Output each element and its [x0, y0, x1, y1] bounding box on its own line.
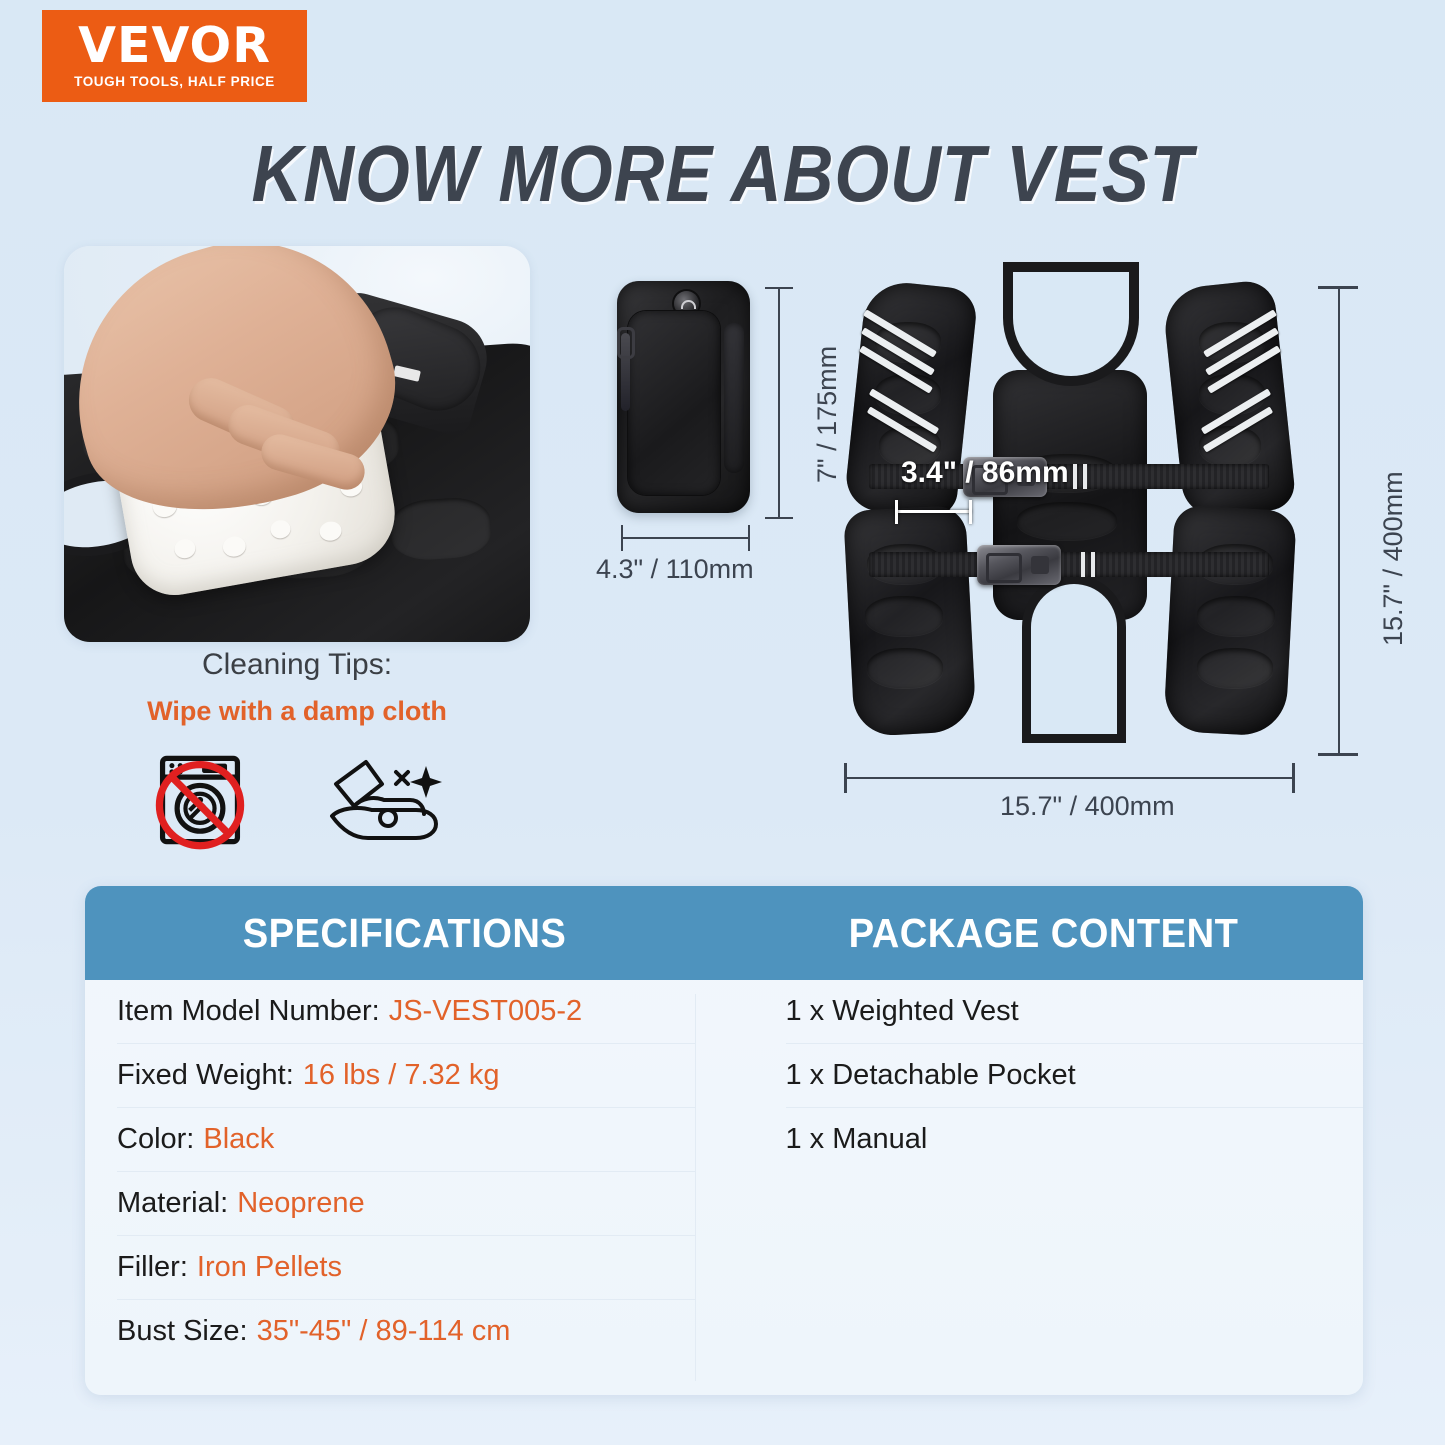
table-header-row: SPECIFICATIONS PACKAGE CONTENT: [85, 886, 1363, 980]
vest-lower-strap: [869, 552, 1269, 577]
vest-width-line: [845, 777, 1295, 779]
vest-width-cap-left: [844, 763, 847, 793]
pocket-zipper-pull: [617, 327, 635, 359]
package-content-column: 1 x Weighted Vest 1 x Detachable Pocket …: [696, 980, 1364, 1395]
cleaning-photo: [64, 246, 530, 642]
package-content-header: PACKAGE CONTENT: [746, 886, 1340, 980]
pouch-width-label: 4.3" / 110mm: [596, 554, 754, 585]
list-item: 1 x Manual: [786, 1108, 1364, 1171]
spec-label: Fixed Weight:: [117, 1059, 294, 1092]
specifications-column: Item Model Number: JS-VEST005-2 Fixed We…: [85, 980, 695, 1395]
table-row: Filler: Iron Pellets: [117, 1236, 695, 1300]
vest-height-label: 15.7" / 400mm: [1378, 471, 1409, 646]
spec-value: Iron Pellets: [197, 1251, 342, 1284]
spec-label: Color:: [117, 1123, 194, 1156]
brand-name: VEVOR: [78, 23, 271, 70]
spec-label: Filler:: [117, 1251, 188, 1284]
spec-value: Black: [203, 1123, 274, 1156]
vest-height-cap-bottom: [1318, 753, 1358, 756]
pocket-side-panel: [724, 323, 744, 473]
table-row: Bust Size: 35"-45" / 89-114 cm: [117, 1300, 695, 1363]
table-row: Fixed Weight: 16 lbs / 7.32 kg: [117, 1044, 695, 1108]
vest-body: [845, 278, 1295, 738]
spec-value: JS-VEST005-2: [389, 995, 582, 1028]
pouch-height-label: 7" / 175mm: [812, 346, 843, 483]
pouch-height-line: [778, 287, 780, 519]
vest-width-label: 15.7" / 400mm: [1000, 791, 1175, 822]
vest-bottom-opening: [1031, 584, 1117, 734]
spec-label: Item Model Number:: [117, 995, 380, 1028]
vest-strap-gap-label: 3.4" / 86mm: [901, 456, 1069, 490]
specs-table: SPECIFICATIONS PACKAGE CONTENT Item Mode…: [85, 886, 1363, 1395]
hand-wipe-icon: [324, 750, 446, 855]
vest-lower-buckle: [977, 545, 1061, 585]
table-row: Material: Neoprene: [117, 1172, 695, 1236]
spec-label: Bust Size:: [117, 1315, 248, 1348]
list-item: 1 x Detachable Pocket: [786, 1044, 1364, 1108]
pouch-width-cap-left: [621, 525, 623, 551]
brand-tagline: TOUGH TOOLS, HALF PRICE: [74, 74, 275, 89]
table-row: Item Model Number: JS-VEST005-2: [117, 980, 695, 1044]
detachable-pocket-image: [617, 281, 750, 513]
vest-width-cap-right: [1292, 763, 1295, 793]
table-body: Item Model Number: JS-VEST005-2 Fixed We…: [85, 980, 1363, 1395]
vest-height-cap-top: [1318, 286, 1358, 289]
vevor-logo: VEVOR TOUGH TOOLS, HALF PRICE: [42, 10, 307, 102]
no-machine-wash-icon: [148, 748, 252, 857]
cleaning-tips-label: Cleaning Tips:: [64, 648, 530, 682]
cleaning-icon-row: [64, 742, 530, 862]
spec-value: 16 lbs / 7.32 kg: [303, 1059, 500, 1092]
pouch-height-cap-bottom: [765, 517, 793, 519]
spec-value: Neoprene: [237, 1187, 364, 1220]
pouch-width-cap-right: [748, 525, 750, 551]
weighted-vest-image: 3.4" / 86mm: [845, 278, 1295, 738]
cleaning-instruction: Wipe with a damp cloth: [64, 696, 530, 727]
spec-value: 35"-45" / 89-114 cm: [257, 1315, 511, 1348]
pouch-width-line: [622, 537, 750, 539]
page-title: KNOW MORE ABOUT VEST: [87, 128, 1359, 220]
table-row: Color: Black: [117, 1108, 695, 1172]
spec-label: Material:: [117, 1187, 228, 1220]
pocket-front-panel: [628, 311, 720, 495]
vest-neck-opening: [1013, 272, 1129, 376]
vest-height-line: [1338, 286, 1340, 756]
specifications-header: SPECIFICATIONS: [107, 886, 701, 980]
list-item: 1 x Weighted Vest: [786, 980, 1364, 1044]
pouch-height-cap-top: [765, 287, 793, 289]
infographic-canvas: VEVOR TOUGH TOOLS, HALF PRICE KNOW MORE …: [0, 0, 1445, 1445]
